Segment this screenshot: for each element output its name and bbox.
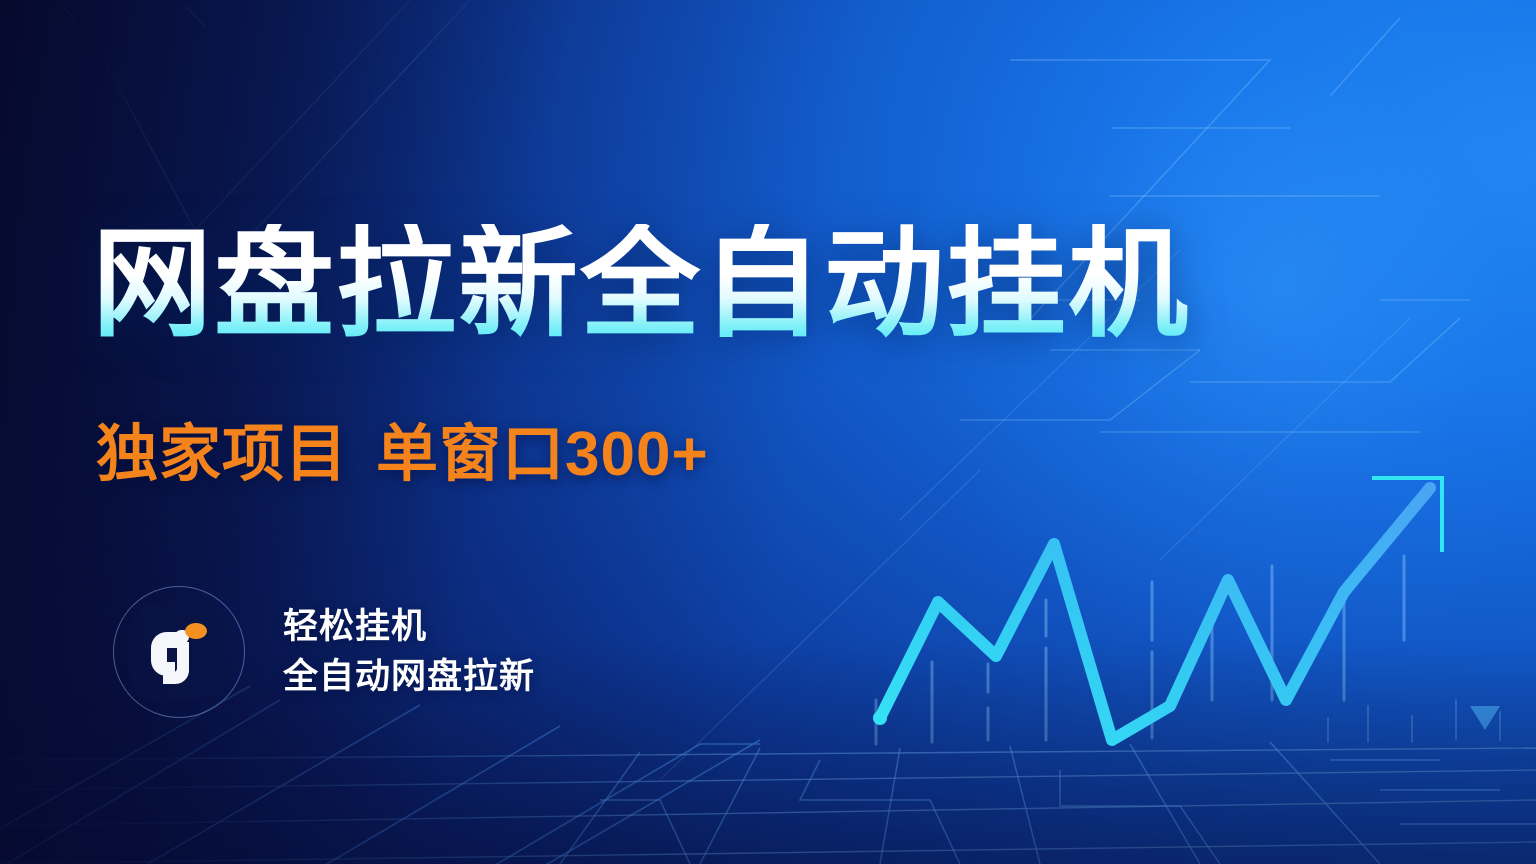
logo-ring [113,586,245,718]
promo-poster: 网盘拉新全自动挂机 独家项目单窗口300+ [0,0,1536,864]
brand-tagline: 轻松挂机 全自动网盘拉新 [283,602,535,701]
subtitle-right: 单窗口300+ [376,420,709,489]
orange-dot-icon [185,623,207,639]
gj-monogram-icon [129,602,229,702]
brand-block: 轻松挂机 全自动网盘拉新 [113,586,535,718]
chart-line-series [880,488,1430,740]
brand-tagline-line1: 轻松挂机 [283,602,535,652]
page-subtitle: 独家项目单窗口300+ [96,424,709,486]
rising-line-chart [840,440,1460,770]
brand-tagline-line2: 全自动网盘拉新 [283,652,535,702]
subtitle-left: 独家项目 [96,420,348,489]
page-title: 网盘拉新全自动挂机 [92,224,1190,344]
chart-start-point [873,711,887,725]
